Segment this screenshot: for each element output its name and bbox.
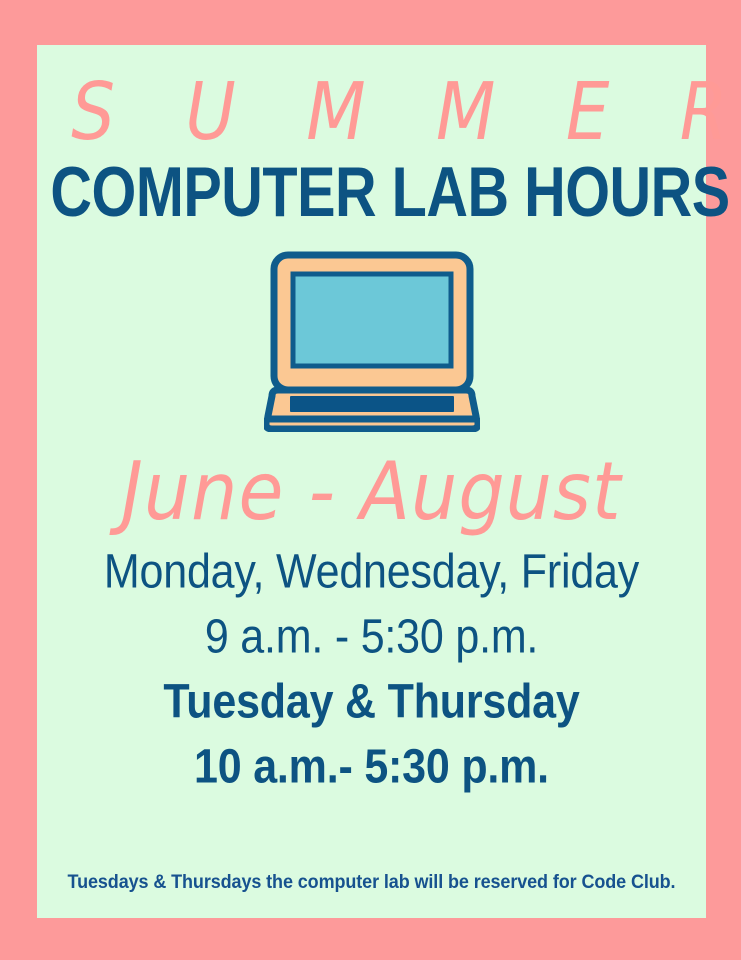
schedule-line-days-mwf: Monday, Wednesday, Friday: [37, 536, 706, 609]
schedule-list: Monday, Wednesday, Friday 9 a.m. - 5:30 …: [37, 540, 706, 800]
poster-footnote: Tuesdays & Thursdays the computer lab wi…: [37, 872, 706, 891]
laptop-base-lip: [266, 419, 478, 429]
laptop-illustration: [37, 250, 706, 432]
laptop-screen: [293, 274, 451, 366]
laptop-icon: [264, 250, 480, 432]
poster-inner-panel: S U M M E R COMPUTER LAB HOURS June - Au…: [37, 45, 706, 918]
poster-eyebrow-summer: S U M M E R: [47, 72, 696, 152]
page-title: COMPUTER LAB HOURS: [50, 157, 692, 228]
poster-canvas: S U M M E R COMPUTER LAB HOURS June - Au…: [0, 0, 741, 960]
schedule-line-days-tuth: Tuesday & Thursday: [37, 666, 706, 739]
schedule-line-hours-mwf: 9 a.m. - 5:30 p.m.: [37, 601, 706, 674]
poster-date-range: June - August: [37, 452, 706, 532]
schedule-line-hours-tuth: 10 a.m.- 5:30 p.m.: [37, 731, 706, 804]
laptop-keyboard: [290, 396, 454, 412]
